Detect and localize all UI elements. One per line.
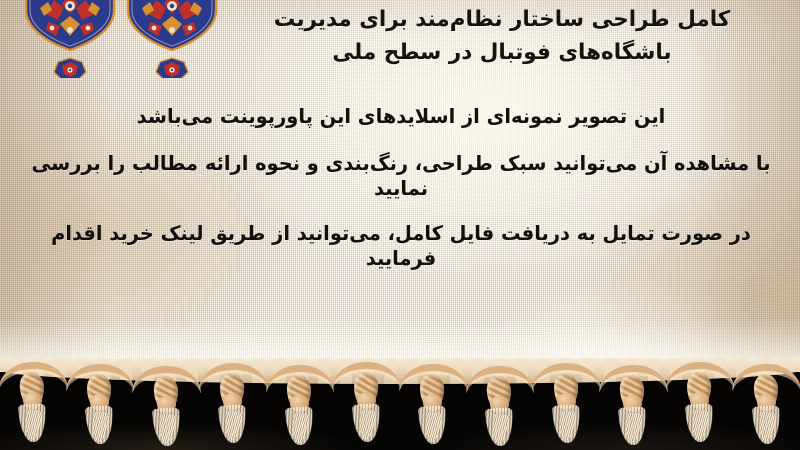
fringe-tassel [599,363,668,450]
fringe-tassel [132,364,201,450]
body-line-2: با مشاهده آن می‌توانید سبک طراحی، رنگ‌بن… [28,151,775,202]
slide-body: این تصویر نمونه‌ای از اسلایدهای این پاور… [16,104,786,272]
fringe-tassel [199,361,268,449]
body-line-1: این تصویر نمونه‌ای از اسلایدهای این پاور… [28,104,775,130]
fringe-tassel [399,362,468,450]
fringe-tassel [732,362,800,450]
fringe-tassel [66,362,135,450]
persian-medallion-right-icon [118,0,226,78]
carpet-fringe [0,362,800,450]
slide-canvas: کامل طراحی ساختار نظام‌مند برای مدیریت ب… [0,0,800,450]
fringe-tassel [532,361,601,449]
fringe-tassel [466,364,535,450]
fringe-tassel [266,363,335,450]
fringe-tassel [332,360,401,448]
fringe-tassel [0,360,68,448]
slide-title: کامل طراحی ساختار نظام‌مند برای مدیریت ب… [222,4,782,69]
persian-medallion-left-icon [16,0,124,78]
fringe-tassel [666,360,735,448]
body-line-3: در صورت تمایل به دریافت فایل کامل، می‌تو… [28,221,775,272]
